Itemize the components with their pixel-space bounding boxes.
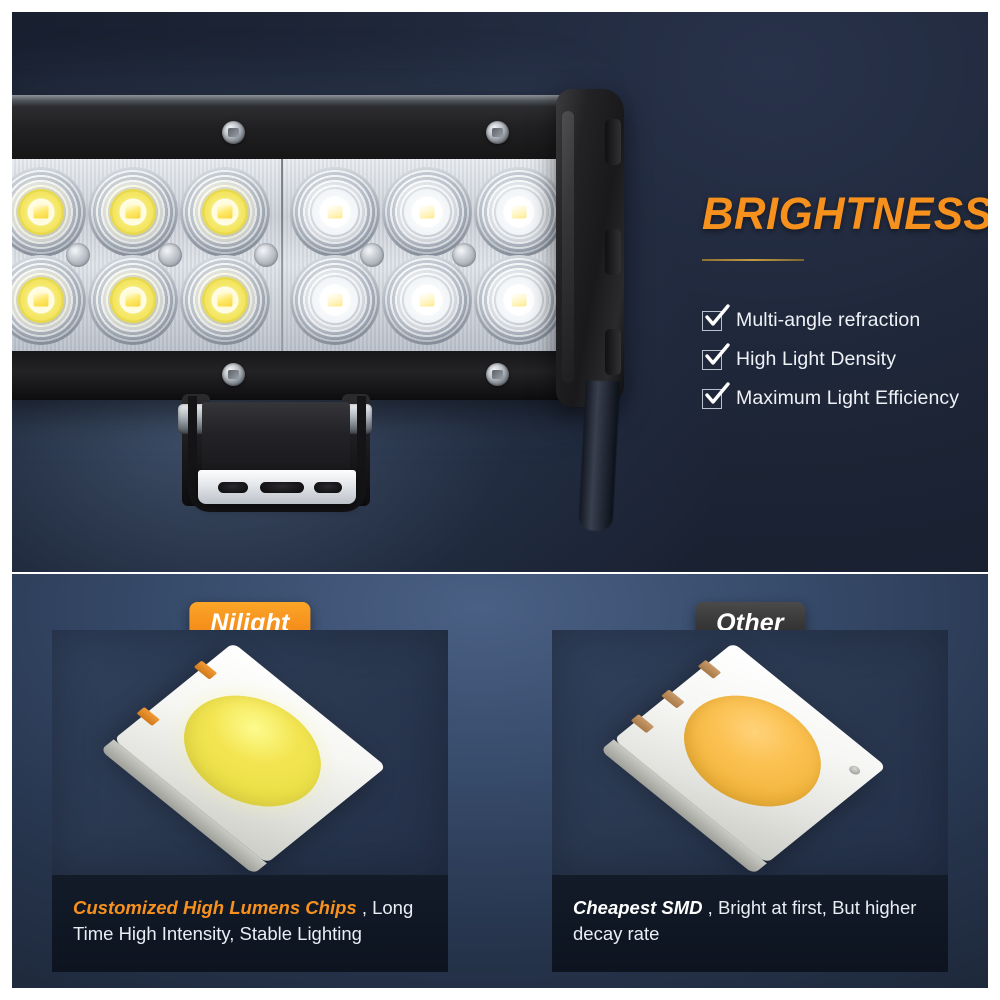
led-light-bar-image xyxy=(12,95,619,435)
comparison-section: Nilight Customized High Lumens Chips , L… xyxy=(12,574,988,988)
lens-post xyxy=(158,243,182,267)
lens-post xyxy=(452,243,476,267)
feature-label: Multi-angle refraction xyxy=(736,309,920,332)
led-chip-nilight xyxy=(114,642,387,863)
housing-screw-icon xyxy=(222,363,245,386)
checkbox-checked-icon xyxy=(702,389,722,409)
brightness-section: BRIGHTNESS Multi-angle refraction xyxy=(12,12,988,572)
nilight-chip-photo xyxy=(52,630,448,875)
nilight-caption: Customized High Lumens Chips , Long Time… xyxy=(52,875,448,972)
housing-screw-icon xyxy=(486,121,509,144)
comparison-card-other: Other Cheapest SMD , Bright at first, Bu… xyxy=(552,630,948,972)
section-heading: BRIGHTNESS xyxy=(702,188,983,240)
lens-seam xyxy=(281,159,283,351)
other-caption: Cheapest SMD , Bright at first, But high… xyxy=(552,875,948,972)
lens-panel xyxy=(12,159,568,351)
checkbox-checked-icon xyxy=(702,350,722,370)
lens-post xyxy=(360,243,384,267)
feature-label: Maximum Light Efficiency xyxy=(736,387,959,410)
caption-emphasis: Cheapest SMD xyxy=(573,897,703,918)
feature-list: Multi-angle refraction High Light Densit… xyxy=(702,309,988,410)
power-cable xyxy=(578,380,620,532)
caption-emphasis: Customized High Lumens Chips xyxy=(73,897,357,918)
housing-screw-icon xyxy=(486,363,509,386)
lens-post xyxy=(254,243,278,267)
led-chip-other xyxy=(614,642,887,863)
other-chip-photo xyxy=(552,630,948,875)
feature-item: Maximum Light Efficiency xyxy=(702,387,988,410)
housing-screw-icon xyxy=(222,121,245,144)
bracket-base-plate xyxy=(198,470,356,504)
light-bar-end-cap xyxy=(556,89,624,407)
comparison-card-nilight: Nilight Customized High Lumens Chips , L… xyxy=(52,630,448,972)
mounting-bracket xyxy=(176,394,376,516)
light-bar-housing xyxy=(12,95,574,400)
feature-item: Multi-angle refraction xyxy=(702,309,988,332)
feature-item: High Light Density xyxy=(702,348,988,371)
brightness-text-panel: BRIGHTNESS Multi-angle refraction xyxy=(702,188,988,426)
heading-divider xyxy=(702,259,804,261)
product-infographic: BRIGHTNESS Multi-angle refraction xyxy=(0,0,1000,1000)
checkbox-checked-icon xyxy=(702,311,722,331)
lens-post xyxy=(66,243,90,267)
feature-label: High Light Density xyxy=(736,348,896,371)
